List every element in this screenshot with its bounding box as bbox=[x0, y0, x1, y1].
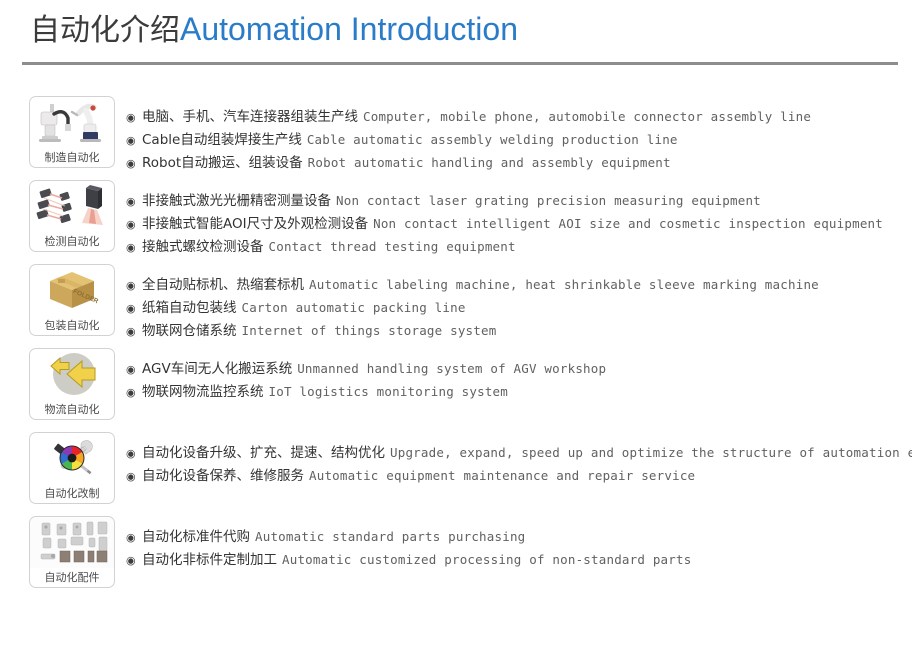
bullet-text-chinese: 物联网物流监控系统 bbox=[142, 380, 264, 400]
thumbnail-caption: 物流自动化 bbox=[30, 403, 114, 417]
bullet-icon: ◉ bbox=[126, 152, 142, 175]
bullet-icon: ◉ bbox=[126, 236, 142, 259]
bullet-icon: ◉ bbox=[126, 526, 142, 549]
bullet-list: ◉ 电脑、手机、汽车连接器组装生产线 Computer, mobile phon… bbox=[126, 96, 912, 174]
cardboard-box-icon: FOLDER bbox=[30, 266, 114, 316]
title-divider bbox=[22, 62, 898, 65]
sections-list: 制造自动化 ◉ 电脑、手机、汽车连接器组装生产线 Computer, mobil… bbox=[0, 96, 912, 600]
bullet-text-english: Computer, mobile phone, automobile conne… bbox=[363, 109, 811, 124]
bullet-text-chinese: 物联网仓储系统 bbox=[142, 319, 237, 339]
bullet-item: ◉ 物联网物流监控系统 IoT logistics monitoring sys… bbox=[126, 380, 912, 403]
bullet-text-english: Non contact intelligent AOI size and cos… bbox=[373, 216, 883, 231]
bullet-icon: ◉ bbox=[126, 213, 142, 236]
bullet-text-chinese: 电脑、手机、汽车连接器组装生产线 bbox=[142, 105, 358, 125]
section-row: FOLDER 包装自动化 ◉ 全自动贴标机、热缩套标机 Automatic la… bbox=[0, 264, 912, 348]
bullet-item: ◉ Robot自动搬运、组装设备 Robot automatic handlin… bbox=[126, 151, 912, 174]
thumbnail-caption: 自动化配件 bbox=[30, 571, 114, 585]
bullet-text-english: Automatic customized processing of non-s… bbox=[282, 552, 691, 567]
thumbnail-caption: 制造自动化 bbox=[30, 151, 114, 165]
bullet-text-english: Non contact laser grating precision meas… bbox=[336, 193, 761, 208]
bullet-text-chinese: 接触式螺纹检测设备 bbox=[142, 235, 264, 255]
bullet-item: ◉ AGV车间无人化搬运系统 Unmanned handling system … bbox=[126, 357, 912, 380]
thumbnail-manufacturing[interactable]: 制造自动化 bbox=[29, 96, 115, 168]
bullet-icon: ◉ bbox=[126, 320, 142, 343]
bullet-item: ◉ 非接触式激光光栅精密测量设备 Non contact laser grati… bbox=[126, 189, 912, 212]
bullet-text-chinese: AGV车间无人化搬运系统 bbox=[142, 357, 292, 377]
section-row: 制造自动化 ◉ 电脑、手机、汽车连接器组装生产线 Computer, mobil… bbox=[0, 96, 912, 180]
bullet-item: ◉ 接触式螺纹检测设备 Contact thread testing equip… bbox=[126, 235, 912, 258]
bullet-item: ◉ 自动化设备升级、扩充、提速、结构优化 Upgrade, expand, sp… bbox=[126, 441, 912, 464]
bullet-list: ◉ 自动化设备升级、扩充、提速、结构优化 Upgrade, expand, sp… bbox=[126, 432, 912, 487]
thumbnail-caption: 检测自动化 bbox=[30, 235, 114, 249]
bullet-text-english: Contact thread testing equipment bbox=[269, 239, 516, 254]
bullet-item: ◉ 自动化标准件代购 Automatic standard parts purc… bbox=[126, 525, 912, 548]
bullet-text-chinese: Cable自动组装焊接生产线 bbox=[142, 128, 302, 148]
bullet-text-english: Cable automatic assembly welding product… bbox=[307, 132, 678, 147]
bullet-list: ◉ 非接触式激光光栅精密测量设备 Non contact laser grati… bbox=[126, 180, 912, 258]
bullet-list: ◉ AGV车间无人化搬运系统 Unmanned handling system … bbox=[126, 348, 912, 403]
bullet-text-english: Robot automatic handling and assembly eq… bbox=[308, 155, 671, 170]
bullet-text-english: Automatic equipment maintenance and repa… bbox=[309, 468, 695, 483]
bullet-text-chinese: 全自动贴标机、热缩套标机 bbox=[142, 273, 304, 293]
bullet-text-english: Internet of things storage system bbox=[242, 323, 497, 338]
bullet-item: ◉ 全自动贴标机、热缩套标机 Automatic labeling machin… bbox=[126, 273, 912, 296]
bullet-item: ◉ 自动化设备保养、维修服务 Automatic equipment maint… bbox=[126, 464, 912, 487]
section-row: 自动化配件 ◉ 自动化标准件代购 Automatic standard part… bbox=[0, 516, 912, 600]
bullet-item: ◉ 电脑、手机、汽车连接器组装生产线 Computer, mobile phon… bbox=[126, 105, 912, 128]
section-row: 物流自动化 ◉ AGV车间无人化搬运系统 Unmanned handling s… bbox=[0, 348, 912, 432]
bullet-icon: ◉ bbox=[126, 106, 142, 129]
wrench-screwdriver-colorwheel-icon bbox=[30, 434, 114, 484]
bullet-text-english: Automatic standard parts purchasing bbox=[255, 529, 525, 544]
bullet-text-chinese: Robot自动搬运、组装设备 bbox=[142, 151, 303, 171]
thumbnail-inspection[interactable]: 检测自动化 bbox=[29, 180, 115, 252]
bullet-icon: ◉ bbox=[126, 129, 142, 152]
bullet-item: ◉ 纸箱自动包装线 Carton automatic packing line bbox=[126, 296, 912, 319]
bullet-list: ◉ 全自动贴标机、热缩套标机 Automatic labeling machin… bbox=[126, 264, 912, 342]
thumbnail-logistics[interactable]: 物流自动化 bbox=[29, 348, 115, 420]
bullet-text-english: Automatic labeling machine, heat shrinka… bbox=[309, 277, 819, 292]
bullet-text-english: IoT logistics monitoring system bbox=[269, 384, 509, 399]
bullet-text-english: Unmanned handling system of AGV workshop bbox=[297, 361, 606, 376]
inbound-arrows-icon bbox=[30, 350, 114, 400]
bullet-text-chinese: 自动化标准件代购 bbox=[142, 525, 250, 545]
bullet-icon: ◉ bbox=[126, 274, 142, 297]
page-title-english: Automation Introduction bbox=[180, 11, 518, 47]
bullet-icon: ◉ bbox=[126, 442, 142, 465]
laser-sensor-inspection-icon bbox=[30, 182, 114, 232]
page-title: 自动化介绍Automation Introduction bbox=[30, 9, 912, 51]
thumbnail-parts[interactable]: 自动化配件 bbox=[29, 516, 115, 588]
bullet-icon: ◉ bbox=[126, 297, 142, 320]
bullet-text-english: Upgrade, expand, speed up and optimize t… bbox=[390, 445, 912, 460]
thumbnail-retrofit[interactable]: 自动化改制 bbox=[29, 432, 115, 504]
bullet-text-english: Carton automatic packing line bbox=[242, 300, 466, 315]
page-title-chinese: 自动化介绍 bbox=[30, 13, 180, 48]
bullet-text-chinese: 非接触式智能AOI尺寸及外观检测设备 bbox=[142, 212, 368, 232]
thumbnail-packaging[interactable]: FOLDER 包装自动化 bbox=[29, 264, 115, 336]
bullet-text-chinese: 非接触式激光光栅精密测量设备 bbox=[142, 189, 331, 209]
bullet-icon: ◉ bbox=[126, 549, 142, 572]
bullet-list: ◉ 自动化标准件代购 Automatic standard parts purc… bbox=[126, 516, 912, 571]
section-row: 检测自动化 ◉ 非接触式激光光栅精密测量设备 Non contact laser… bbox=[0, 180, 912, 264]
bullet-icon: ◉ bbox=[126, 465, 142, 488]
bullet-icon: ◉ bbox=[126, 190, 142, 213]
bullet-item: ◉ 非接触式智能AOI尺寸及外观检测设备 Non contact intelli… bbox=[126, 212, 912, 235]
bullet-item: ◉ 物联网仓储系统 Internet of things storage sys… bbox=[126, 319, 912, 342]
bullet-text-chinese: 纸箱自动包装线 bbox=[142, 296, 237, 316]
bullet-icon: ◉ bbox=[126, 358, 142, 381]
bullet-text-chinese: 自动化设备升级、扩充、提速、结构优化 bbox=[142, 441, 385, 461]
thumbnail-caption: 包装自动化 bbox=[30, 319, 114, 333]
bullet-item: ◉ Cable自动组装焊接生产线 Cable automatic assembl… bbox=[126, 128, 912, 151]
section-row: 自动化改制 ◉ 自动化设备升级、扩充、提速、结构优化 Upgrade, expa… bbox=[0, 432, 912, 516]
mechanical-parts-grid-icon bbox=[30, 518, 114, 568]
industrial-robot-arms-icon bbox=[30, 98, 114, 148]
bullet-item: ◉ 自动化非标件定制加工 Automatic customized proces… bbox=[126, 548, 912, 571]
thumbnail-caption: 自动化改制 bbox=[30, 487, 114, 501]
bullet-text-chinese: 自动化非标件定制加工 bbox=[142, 548, 277, 568]
bullet-icon: ◉ bbox=[126, 381, 142, 404]
bullet-text-chinese: 自动化设备保养、维修服务 bbox=[142, 464, 304, 484]
page-header: 自动化介绍Automation Introduction bbox=[0, 0, 912, 50]
